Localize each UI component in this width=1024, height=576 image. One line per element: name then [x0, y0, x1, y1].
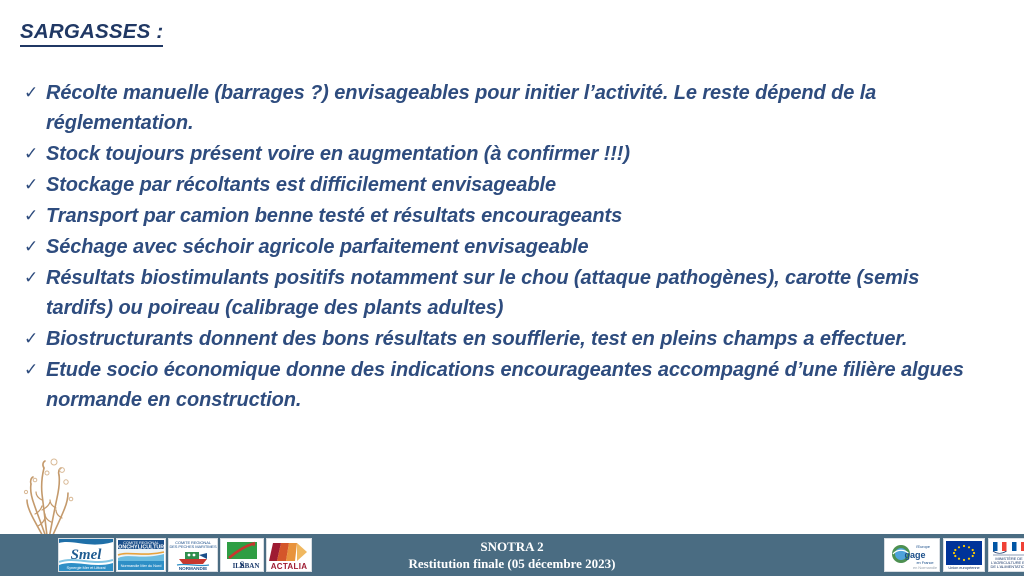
svg-text:DE L'ALIMENTATION: DE L'ALIMENTATION	[991, 564, 1024, 569]
svg-text:gage: gage	[904, 550, 925, 560]
svg-text:l'Europe: l'Europe	[916, 544, 931, 549]
list-item-text: Séchage avec séchoir agricole parfaiteme…	[46, 232, 970, 262]
page-title: SARGASSES :	[20, 20, 163, 47]
logo-smel: Smel Synergie Mer et Littoral	[58, 538, 114, 572]
checkmark-icon: ✓	[20, 139, 46, 169]
checkmark-icon: ✓	[20, 355, 46, 385]
logo-republique-francaise: MINISTÈRE DE L'AGRICULTURE ET DE L'ALIME…	[988, 538, 1024, 572]
list-item-text: Stockage par récoltants est difficilemen…	[46, 170, 970, 200]
list-item-text: Transport par camion benne testé et résu…	[46, 201, 970, 231]
logo-crpm-normandie: COMITE REGIONAL DES PECHES MARITIMES NOR…	[168, 538, 218, 572]
list-item-text: Etude socio économique donne des indicat…	[46, 355, 970, 415]
checkmark-icon: ✓	[20, 263, 46, 293]
checkmark-icon: ✓	[20, 201, 46, 231]
bullet-list: ✓ Récolte manuelle (barrages ?) envisage…	[20, 78, 970, 416]
list-item: ✓ Etude socio économique donne des indic…	[20, 355, 970, 415]
logo-union-europeenne: Union européenne	[943, 538, 985, 572]
svg-text:Normandie Mer du Nord: Normandie Mer du Nord	[121, 563, 162, 568]
svg-text:Smel: Smel	[71, 547, 103, 563]
svg-text:ILEBAN: ILEBAN	[233, 562, 260, 570]
logo-actalia: ACTALIA	[266, 538, 312, 572]
logo-sileban: S ILEBAN	[220, 538, 264, 572]
svg-text:en Normandie: en Normandie	[913, 565, 938, 570]
seaweed-icon	[18, 452, 80, 544]
list-item: ✓ Biostructurants donnent des bons résul…	[20, 324, 970, 354]
logo-eu-caption: Union européenne	[948, 565, 980, 570]
funding-logos-right: l'Europe gage en France en Normandie	[884, 538, 1024, 572]
list-item: ✓ Résultats biostimulants positifs notam…	[20, 263, 970, 323]
list-item-text: Biostructurants donnent des bons résulta…	[46, 324, 970, 354]
list-item-text: Stock toujours présent voire en augmenta…	[46, 139, 970, 169]
list-item: ✓ Stock toujours présent voire en augmen…	[20, 139, 970, 169]
checkmark-icon: ✓	[20, 232, 46, 262]
list-item: ✓ Récolte manuelle (barrages ?) envisage…	[20, 78, 970, 138]
list-item: ✓ Stockage par récoltants est difficilem…	[20, 170, 970, 200]
list-item-text: Résultats biostimulants positifs notamme…	[46, 263, 970, 323]
svg-text:NORMANDIE: NORMANDIE	[179, 566, 207, 571]
list-item: ✓ Séchage avec séchoir agricole parfaite…	[20, 232, 970, 262]
logo-smel-tagline: Synergie Mer et Littoral	[67, 565, 106, 570]
checkmark-icon: ✓	[20, 78, 46, 108]
logo-europe-sengage: l'Europe gage en France en Normandie	[884, 538, 940, 572]
svg-text:ACTALIA: ACTALIA	[271, 562, 308, 571]
checkmark-icon: ✓	[20, 170, 46, 200]
checkmark-icon: ✓	[20, 324, 46, 354]
partner-logos-left: Smel Synergie Mer et Littoral COMITE REG…	[58, 538, 312, 572]
svg-text:DES PECHES MARITIMES: DES PECHES MARITIMES	[169, 544, 217, 549]
slide-root: SARGASSES : ✓ Récolte manuelle (barrages…	[0, 0, 1024, 576]
list-item-text: Récolte manuelle (barrages ?) envisageab…	[46, 78, 970, 138]
logo-crc-conchyliculture: COMITE REGIONAL CONCHYLICULTURE Normandi…	[116, 538, 166, 572]
list-item: ✓ Transport par camion benne testé et ré…	[20, 201, 970, 231]
